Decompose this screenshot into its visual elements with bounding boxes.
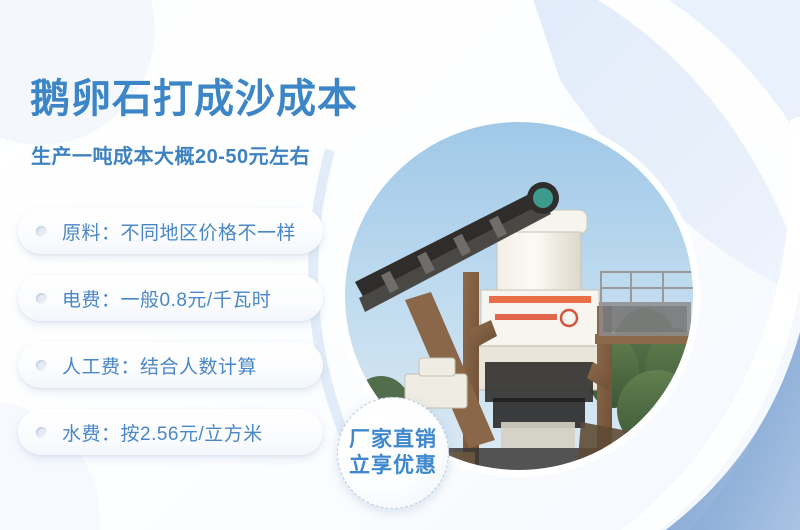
bullet-dot-icon [36,360,47,371]
list-item-label: 人工费：结合人数计算 [62,352,257,379]
bullet-dot-icon [36,226,47,237]
page-title: 鹅卵石打成沙成本 [30,78,358,120]
list-item[interactable]: 水费：按2.56元/立方米 [18,409,323,455]
bullet-dot-icon [36,293,47,304]
promo-banner: 鹅卵石打成沙成本 生产一吨成本大概20-50元左右 原料：不同地区价格不一样 电… [0,0,800,530]
status-badge[interactable]: 厂家直销 立享优惠 [337,397,449,509]
feature-list: 原料：不同地区价格不一样 电费：一般0.8元/千瓦时 人工费：结合人数计算 水费… [18,208,323,476]
list-item-label: 原料：不同地区价格不一样 [62,218,296,245]
list-item-label: 电费：一般0.8元/千瓦时 [62,285,271,312]
list-item[interactable]: 原料：不同地区价格不一样 [18,208,323,254]
list-item[interactable]: 人工费：结合人数计算 [18,342,323,388]
badge-line-1: 厂家直销 [349,427,437,453]
bullet-dot-icon [36,427,47,438]
list-item-label: 水费：按2.56元/立方米 [62,419,263,446]
list-item[interactable]: 电费：一般0.8元/千瓦时 [18,275,323,321]
page-subtitle: 生产一吨成本大概20-50元左右 [31,140,310,169]
badge-line-2: 立享优惠 [349,453,437,479]
